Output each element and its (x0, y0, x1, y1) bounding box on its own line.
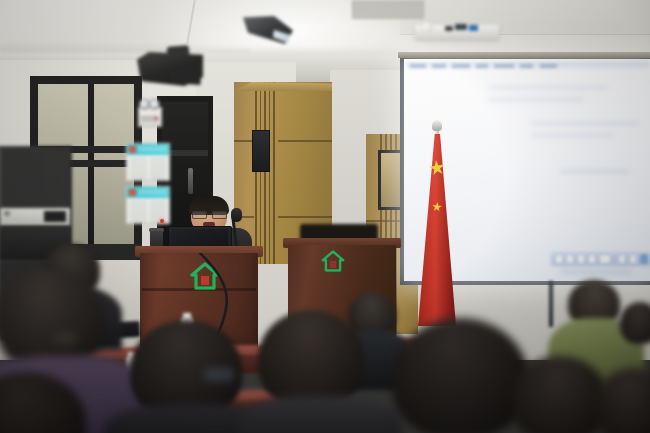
audience-member (512, 356, 608, 433)
eyeglasses-icon (54, 332, 76, 344)
audience-member (258, 310, 364, 408)
seated-audience (0, 0, 650, 433)
audience-member (620, 302, 650, 344)
audience-member-shoulders (238, 396, 402, 433)
eyeglasses-icon (204, 368, 234, 381)
audience-member (392, 318, 528, 433)
conference-room-photo (0, 0, 650, 433)
